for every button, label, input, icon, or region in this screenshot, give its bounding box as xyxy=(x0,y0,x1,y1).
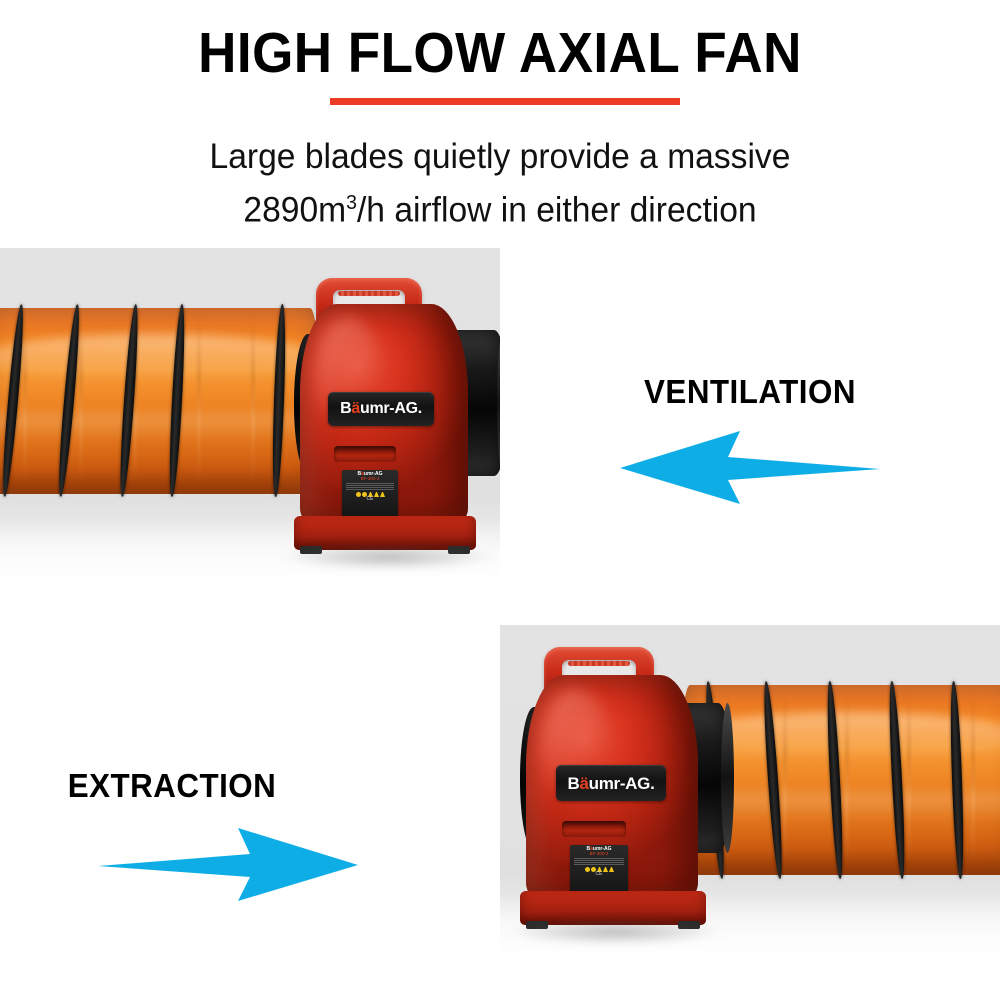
brand-badge-text: Bäumr-AG. xyxy=(567,775,654,792)
handle-grip-ribs xyxy=(568,661,630,666)
duct-crease xyxy=(198,315,200,486)
warning-icon-round xyxy=(362,492,367,497)
ventilation-label: VENTILATION xyxy=(513,373,988,411)
brand-text-post: umr-AG. xyxy=(589,774,655,793)
duct-crease xyxy=(784,693,786,868)
brand-umlaut-a: ä xyxy=(579,774,588,793)
extraction-label: EXTRACTION xyxy=(0,767,410,805)
brand-badge-text: Bäumr-AG. xyxy=(340,401,422,417)
duct-crease xyxy=(846,693,848,868)
title-accent-bar xyxy=(330,98,680,105)
fan-unit: Bäumr-AG. Bäumr-AG BF-300-2 xyxy=(288,278,500,590)
spec-label: Bäumr-AG BF-300-2 CE xyxy=(342,470,398,520)
subtitle-line-2: 2890m3/h airflow in either direction xyxy=(20,180,980,234)
airflow-unit-rest: /h airflow in either direction xyxy=(357,191,757,230)
duct-hose xyxy=(0,308,320,494)
page-title: HIGH FLOW AXIAL FAN xyxy=(35,22,965,84)
duct-crease xyxy=(80,315,82,486)
spec-text-lines xyxy=(572,857,626,866)
warning-icon-triangle xyxy=(374,492,379,497)
extraction-arrow-icon xyxy=(98,825,360,903)
warning-icon-triangle xyxy=(609,867,614,872)
spec-text-lines xyxy=(344,482,396,491)
header-block: HIGH FLOW AXIAL FAN Large blades quietly… xyxy=(0,0,1000,248)
fan-unit: Bäumr-AG. Bäumr-AG BF-300-2 xyxy=(500,647,738,965)
brand-text-pre: B xyxy=(340,400,351,417)
warning-icon-triangle xyxy=(603,867,608,872)
photo-extraction: Bäumr-AG. Bäumr-AG BF-300-2 xyxy=(500,625,1000,1000)
product-feature-image: HIGH FLOW AXIAL FAN Large blades quietly… xyxy=(0,0,1000,1000)
duct-crease xyxy=(908,693,910,868)
ce-mark: CE xyxy=(572,872,626,877)
brand-badge: Bäumr-AG. xyxy=(556,765,666,801)
fan-ground-shadow xyxy=(506,919,724,945)
warning-icon-triangle xyxy=(380,492,385,497)
fan-housing: Bäumr-AG. Bäumr-AG BF-300-2 xyxy=(300,304,468,528)
brand-text-post: umr-AG. xyxy=(360,400,422,417)
photo-ventilation: Bäumr-AG. Bäumr-AG BF-300-2 xyxy=(0,248,500,625)
duct-highlight-secondary xyxy=(0,414,320,440)
airflow-value: 2890m xyxy=(243,191,346,230)
fan-ground-shadow xyxy=(280,544,496,570)
warning-icon-round xyxy=(591,867,596,872)
ventilation-arrow-icon xyxy=(618,428,880,506)
subtitle-line-1: Large blades quietly provide a massive xyxy=(20,133,980,180)
handle-grip-ribs xyxy=(338,291,400,296)
warning-icon-round xyxy=(585,867,590,872)
subtitle: Large blades quietly provide a massive 2… xyxy=(20,133,980,234)
duct-crease xyxy=(24,315,26,486)
airflow-exponent: 3 xyxy=(346,192,357,214)
warning-icon-round xyxy=(356,492,361,497)
fan-housing: Bäumr-AG. Bäumr-AG BF-300-2 xyxy=(526,675,698,903)
callout-ventilation: VENTILATION xyxy=(500,248,1000,625)
duct-crease xyxy=(252,315,254,486)
ce-mark: CE xyxy=(344,497,396,502)
callout-extraction: EXTRACTION xyxy=(0,625,500,1000)
fan-grip-slot xyxy=(334,446,396,462)
brand-badge: Bäumr-AG. xyxy=(328,392,434,426)
fan-barrel-rim xyxy=(721,703,734,853)
brand-umlaut-a: ä xyxy=(351,400,360,417)
fan-grip-slot xyxy=(562,821,626,837)
brand-text-pre: B xyxy=(567,774,579,793)
spec-label: Bäumr-AG BF-300-2 CE xyxy=(570,845,628,897)
duct-crease xyxy=(972,693,974,868)
